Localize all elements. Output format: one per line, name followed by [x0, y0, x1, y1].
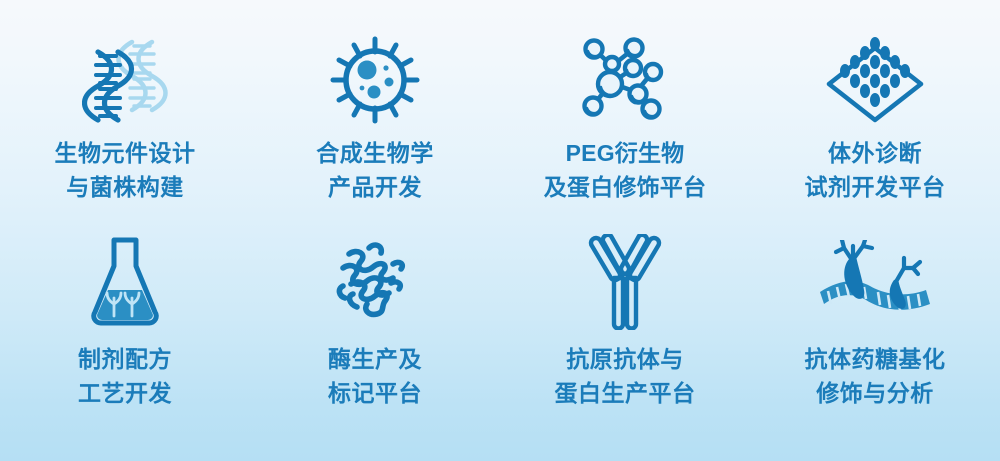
capability-row-bottom: 制剂配方 工艺开发: [0, 232, 1000, 432]
capability-label-line2: 产品开发: [316, 170, 434, 204]
capability-label: PEG衍生物 及蛋白修饰平台: [544, 136, 706, 204]
capability-label-line1: 生物元件设计: [55, 140, 196, 166]
capability-card-antigen-antibody[interactable]: 抗原抗体与 蛋白生产平台: [500, 232, 750, 432]
capability-label: 酶生产及 标记平台: [328, 342, 422, 410]
capability-card-peg-derivatives[interactable]: PEG衍生物 及蛋白修饰平台: [500, 34, 750, 224]
molecule-network-icon: [579, 37, 671, 123]
microplate-diamond-icon: [823, 36, 927, 124]
dna-helix-icon: [82, 36, 168, 124]
capability-card-formulation-process[interactable]: 制剂配方 工艺开发: [0, 232, 250, 432]
capability-grid: 生物元件设计 与菌株构建: [0, 0, 1000, 461]
capability-card-enzyme-labeling[interactable]: 酶生产及 标记平台: [250, 232, 500, 432]
capability-label-line2: 修饰与分析: [805, 376, 946, 410]
capability-card-synthetic-biology[interactable]: 合成生物学 产品开发: [250, 34, 500, 224]
capability-label-line2: 试剂开发平台: [805, 170, 946, 204]
capability-label-line1: 体外诊断: [828, 140, 922, 166]
icon-container: [812, 232, 938, 332]
icon-container: [82, 34, 168, 126]
icon-container: [85, 232, 165, 332]
capability-label-line2: 蛋白生产平台: [555, 376, 696, 410]
capability-label-line2: 标记平台: [328, 376, 422, 410]
capability-label: 合成生物学 产品开发: [316, 136, 434, 204]
capability-label-line2: 工艺开发: [78, 376, 172, 410]
icon-container: [329, 34, 421, 126]
capability-card-ivd-reagents[interactable]: 体外诊断 试剂开发平台: [750, 34, 1000, 224]
capability-label: 体外诊断 试剂开发平台: [805, 136, 946, 204]
icon-container: [327, 232, 423, 332]
capability-label: 抗原抗体与 蛋白生产平台: [555, 342, 696, 410]
capability-label-line1: 抗原抗体与: [566, 346, 684, 372]
capability-label-line2: 及蛋白修饰平台: [544, 170, 706, 204]
icon-container: [823, 34, 927, 126]
capability-label: 抗体药糖基化 修饰与分析: [805, 342, 946, 410]
antibody-y-icon: [582, 234, 668, 330]
capability-row-top: 生物元件设计 与菌株构建: [0, 34, 1000, 224]
capability-label-line1: 制剂配方: [78, 346, 172, 372]
virus-cell-icon: [329, 35, 421, 125]
glycan-antibody-icon: [812, 240, 938, 324]
erlenmeyer-flask-icon: [85, 234, 165, 330]
capability-card-bio-parts-design[interactable]: 生物元件设计 与菌株构建: [0, 34, 250, 224]
capability-label-line2: 与菌株构建: [55, 170, 196, 204]
capability-label-line1: PEG衍生物: [566, 140, 685, 166]
capability-label-line1: 酶生产及: [328, 346, 422, 372]
capability-card-antibody-glycosylation[interactable]: 抗体药糖基化 修饰与分析: [750, 232, 1000, 432]
capability-label-line1: 合成生物学: [316, 140, 434, 166]
capability-label: 生物元件设计 与菌株构建: [55, 136, 196, 204]
capability-label-line1: 抗体药糖基化: [805, 346, 946, 372]
capability-label: 制剂配方 工艺开发: [78, 342, 172, 410]
enzyme-protein-icon: [327, 234, 423, 330]
icon-container: [579, 34, 671, 126]
icon-container: [582, 232, 668, 332]
